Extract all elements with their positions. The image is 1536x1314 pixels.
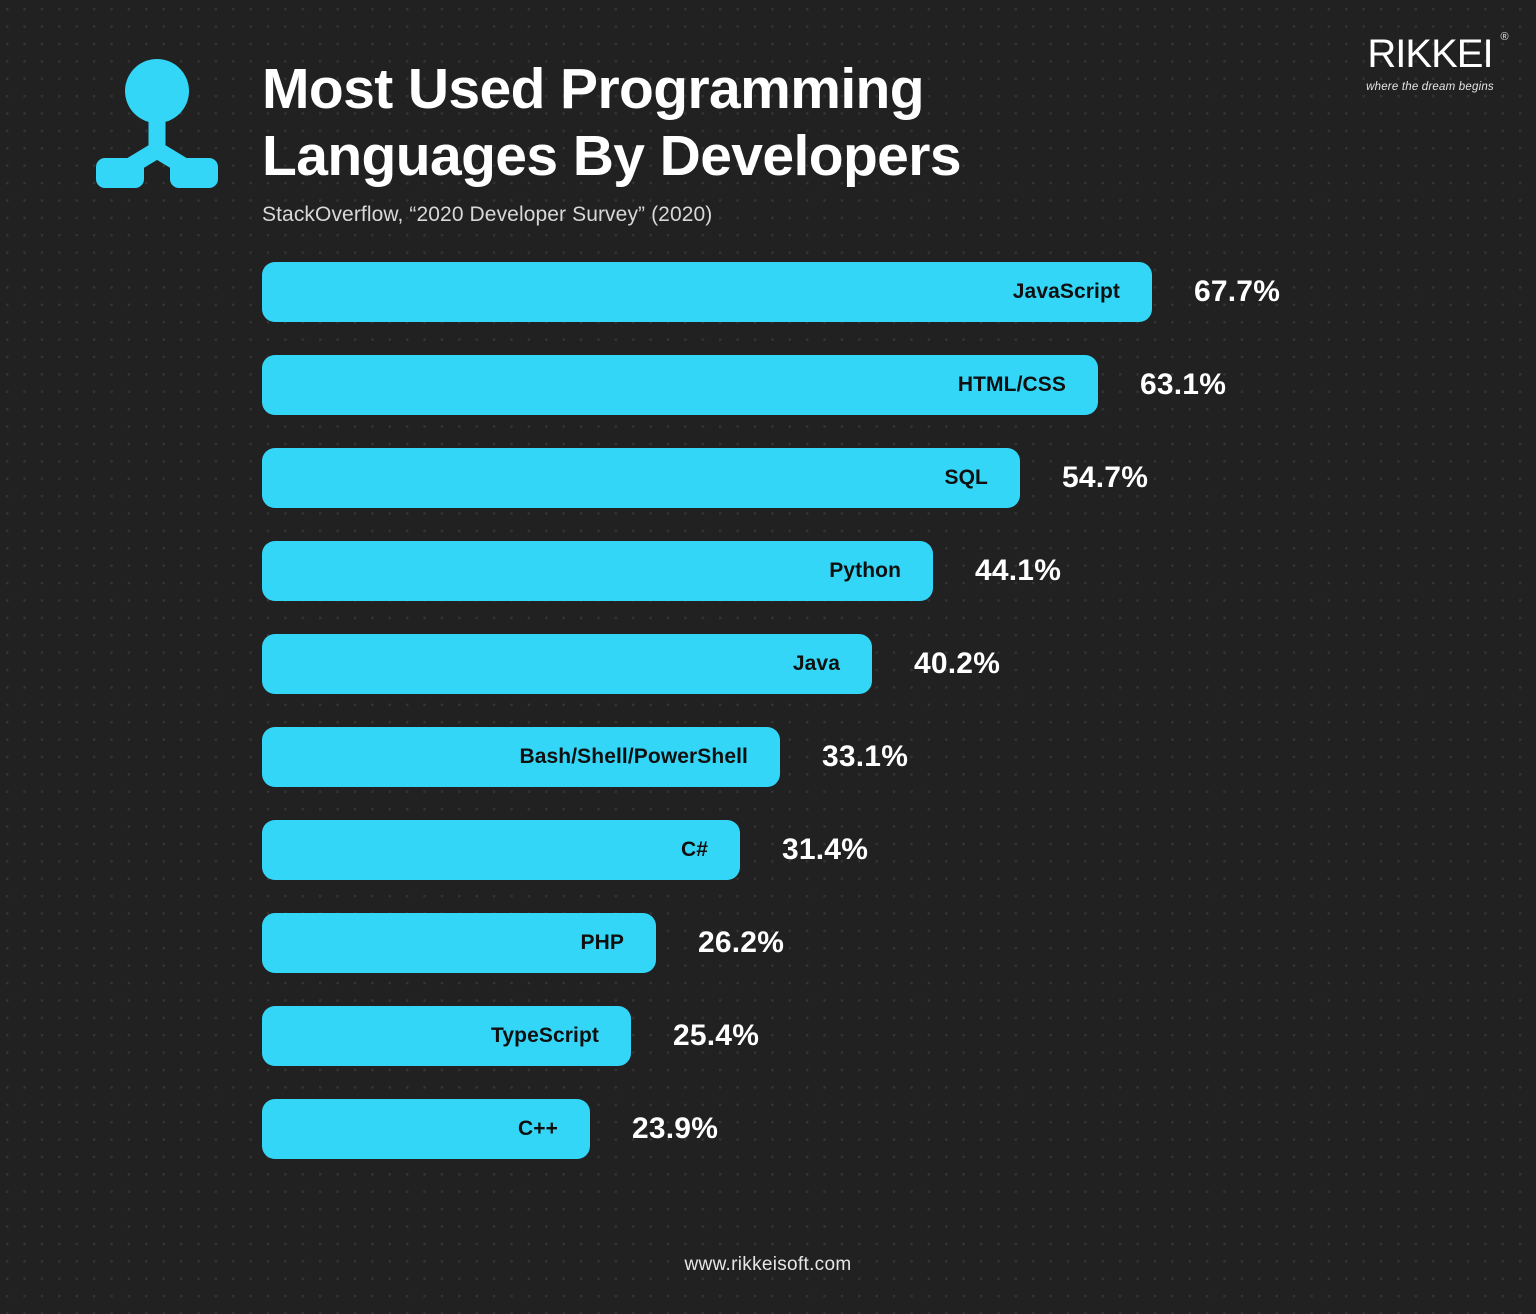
bar-python: Python	[262, 541, 933, 601]
bar-row: HTML/CSS63.1%	[0, 355, 1536, 415]
logo-wordmark: RIKKEI ®	[1367, 34, 1492, 74]
bar-row: JavaScript67.7%	[0, 262, 1536, 322]
bar-c: C#	[262, 820, 740, 880]
bar-label: JavaScript	[1013, 280, 1152, 304]
header: Most Used Programming Languages By Devel…	[0, 0, 1536, 250]
page-title-line-1: Most Used Programming	[262, 56, 1212, 123]
bar-value-label: 25.4%	[673, 1006, 759, 1066]
bar-row: C++23.9%	[0, 1099, 1536, 1159]
bar-javascript: JavaScript	[262, 262, 1152, 322]
bar-html-css: HTML/CSS	[262, 355, 1098, 415]
bar-sql: SQL	[262, 448, 1020, 508]
bar-label: C++	[518, 1117, 590, 1141]
bar-row: C#31.4%	[0, 820, 1536, 880]
bar-value-label: 26.2%	[698, 913, 784, 973]
horizontal-bar-chart: JavaScript67.7%HTML/CSS63.1%SQL54.7%Pyth…	[0, 262, 1536, 1192]
bar-label: C#	[681, 838, 740, 862]
bar-row: PHP26.2%	[0, 913, 1536, 973]
hierarchy-node-icon	[96, 58, 218, 188]
infographic-poster: Most Used Programming Languages By Devel…	[0, 0, 1536, 1314]
rikkei-logo: RIKKEI ® where the dream begins	[1360, 34, 1500, 93]
bar-row: SQL54.7%	[0, 448, 1536, 508]
bar-bash-shell-powershell: Bash/Shell/PowerShell	[262, 727, 780, 787]
bar-row: Bash/Shell/PowerShell33.1%	[0, 727, 1536, 787]
bar-row: Python44.1%	[0, 541, 1536, 601]
bar-php: PHP	[262, 913, 656, 973]
bar-label: HTML/CSS	[958, 373, 1098, 397]
bar-row: Java40.2%	[0, 634, 1536, 694]
page-subtitle-source: StackOverflow, “2020 Developer Survey” (…	[262, 203, 712, 227]
bar-label: PHP	[581, 931, 656, 955]
bar-value-label: 40.2%	[914, 634, 1000, 694]
page-title-line-2: Languages By Developers	[262, 123, 1212, 190]
bar-value-label: 44.1%	[975, 541, 1061, 601]
bar-value-label: 67.7%	[1194, 262, 1280, 322]
bar-value-label: 63.1%	[1140, 355, 1226, 415]
bar-label: Bash/Shell/PowerShell	[519, 745, 780, 769]
page-title: Most Used Programming Languages By Devel…	[262, 56, 1212, 189]
logo-tagline: where the dream begins	[1360, 81, 1500, 93]
bar-typescript: TypeScript	[262, 1006, 631, 1066]
bar-label: Java	[793, 652, 872, 676]
footer-website: www.rikkeisoft.com	[0, 1254, 1536, 1276]
bar-value-label: 23.9%	[632, 1099, 718, 1159]
bar-label: TypeScript	[491, 1024, 631, 1048]
bar-value-label: 31.4%	[782, 820, 868, 880]
bar-value-label: 54.7%	[1062, 448, 1148, 508]
bar-value-label: 33.1%	[822, 727, 908, 787]
registered-trademark-icon: ®	[1500, 32, 1507, 43]
bar-label: SQL	[945, 466, 1020, 490]
bar-c: C++	[262, 1099, 590, 1159]
logo-wordmark-text: RIKKEI	[1367, 32, 1492, 76]
bar-label: Python	[829, 559, 933, 583]
bar-java: Java	[262, 634, 872, 694]
bar-row: TypeScript25.4%	[0, 1006, 1536, 1066]
